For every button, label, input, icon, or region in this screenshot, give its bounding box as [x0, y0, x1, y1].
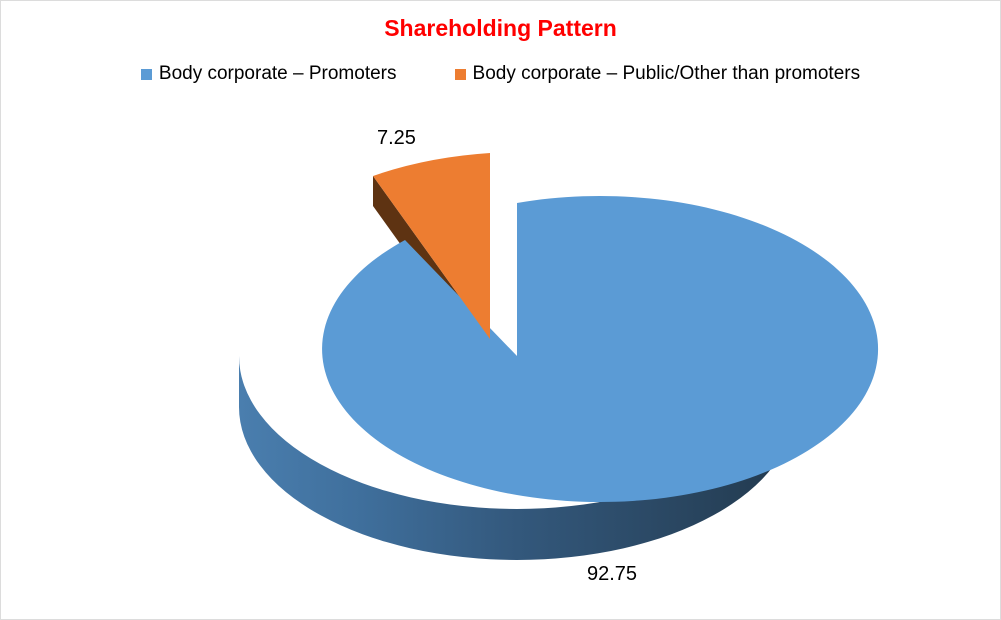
data-label-small-slice: 7.25 — [377, 127, 416, 150]
pie-chart-graphic — [1, 1, 1001, 620]
chart-frame: Shareholding Pattern Body corporate – Pr… — [0, 0, 1001, 620]
pie-slice-promoters-top — [322, 196, 878, 502]
data-label-large-slice: 92.75 — [587, 563, 637, 586]
